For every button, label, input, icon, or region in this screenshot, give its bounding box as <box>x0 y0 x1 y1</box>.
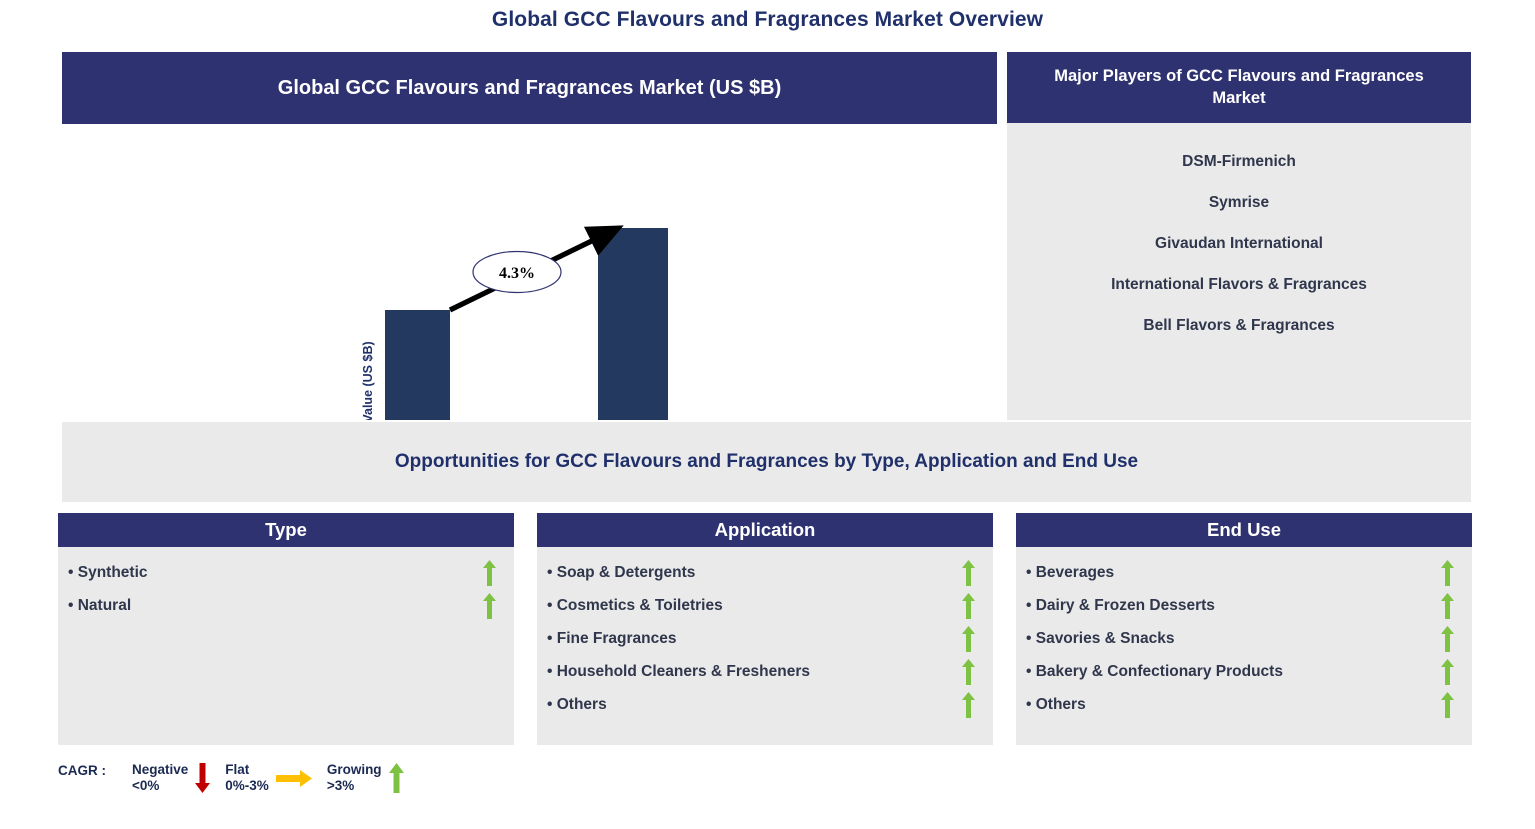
segment-item-label: • Natural <box>68 597 131 615</box>
arrow-up-icon <box>483 593 496 619</box>
arrow-up-icon <box>1441 659 1454 685</box>
segment-item-label: • Household Cleaners & Fresheners <box>547 663 810 681</box>
chart-plot-area: Value (US $B) 4.3% 2024 2031 Source : Lu… <box>62 124 997 420</box>
segment-panel-end-use: End Use • Beverages • Dairy & Frozen Des… <box>1016 513 1472 745</box>
segment-body-end-use: • Beverages • Dairy & Frozen Desserts • … <box>1016 547 1472 745</box>
list-item: • Fine Fragrances <box>537 622 993 655</box>
list-item: • Others <box>1016 688 1472 721</box>
arrow-down-icon <box>195 763 210 793</box>
segment-item-label: • Dairy & Frozen Desserts <box>1026 597 1215 615</box>
list-item: Bell Flavors & Fragrances <box>1007 305 1471 346</box>
segment-item-label: • Others <box>1026 696 1086 714</box>
segment-title: Type <box>265 519 307 541</box>
legend-entry-negative: Negative <0% <box>132 762 221 795</box>
segment-header-end-use: End Use <box>1016 513 1472 547</box>
list-item: • Soap & Detergents <box>537 556 993 589</box>
major-players-list: DSM-Firmenich Symrise Givaudan Internati… <box>1007 123 1471 420</box>
major-players-header: Major Players of GCC Flavours and Fragra… <box>1007 52 1471 123</box>
opportunities-banner: Opportunities for GCC Flavours and Fragr… <box>62 422 1471 502</box>
major-players-title: Major Players of GCC Flavours and Fragra… <box>1007 66 1471 110</box>
segment-body-type: • Synthetic • Natural <box>58 547 514 745</box>
legend-growing-text: Growing >3% <box>327 762 382 795</box>
list-item: • Others <box>537 688 993 721</box>
legend-negative-range: <0% <box>132 778 188 794</box>
list-item: International Flavors & Fragrances <box>1007 264 1471 305</box>
chart-panel-header: Global GCC Flavours and Fragrances Marke… <box>62 52 997 124</box>
major-players-panel: Major Players of GCC Flavours and Fragra… <box>1007 52 1471 420</box>
legend-flat-text: Flat 0%-3% <box>225 762 269 795</box>
segment-item-label: • Synthetic <box>68 564 148 582</box>
opportunities-title: Opportunities for GCC Flavours and Fragr… <box>395 451 1138 473</box>
segment-header-application: Application <box>537 513 993 547</box>
list-item: DSM-Firmenich <box>1007 141 1471 182</box>
arrow-up-icon <box>962 626 975 652</box>
arrow-up-icon <box>1441 560 1454 586</box>
arrow-up-icon <box>962 692 975 718</box>
segment-item-label: • Fine Fragrances <box>547 630 676 648</box>
segment-panel-type: Type • Synthetic • Natural <box>58 513 514 745</box>
segment-item-label: • Beverages <box>1026 564 1114 582</box>
list-item: • Savories & Snacks <box>1016 622 1472 655</box>
y-axis-label: Value (US $B) <box>361 341 375 420</box>
arrow-up-icon <box>1441 692 1454 718</box>
cagr-legend-label: CAGR : <box>58 762 106 778</box>
legend-flat-name: Flat <box>225 762 269 778</box>
cagr-legend: CAGR : Negative <0% Flat 0%-3% Growing >… <box>58 762 419 795</box>
legend-growing-name: Growing <box>327 762 382 778</box>
segment-title: End Use <box>1207 519 1281 541</box>
list-item: Symrise <box>1007 182 1471 223</box>
arrow-up-icon <box>962 659 975 685</box>
legend-growing-range: >3% <box>327 778 382 794</box>
list-item: • Beverages <box>1016 556 1472 589</box>
arrow-up-icon <box>389 763 404 793</box>
page-title: Global GCC Flavours and Fragrances Marke… <box>0 8 1535 32</box>
arrow-up-icon <box>1441 593 1454 619</box>
segment-item-label: • Savories & Snacks <box>1026 630 1174 648</box>
legend-flat-range: 0%-3% <box>225 778 269 794</box>
list-item: Givaudan International <box>1007 223 1471 264</box>
market-bar-chart: Value (US $B) 4.3% 2024 2031 <box>62 124 997 420</box>
arrow-right-icon <box>276 770 312 787</box>
list-item: • Synthetic <box>58 556 514 589</box>
legend-negative-text: Negative <0% <box>132 762 188 795</box>
list-item: • Cosmetics & Toiletries <box>537 589 993 622</box>
cagr-callout-value: 4.3% <box>499 265 535 282</box>
arrow-up-icon <box>962 560 975 586</box>
arrow-up-icon <box>483 560 496 586</box>
segment-item-label: • Cosmetics & Toiletries <box>547 597 723 615</box>
segment-header-type: Type <box>58 513 514 547</box>
bar-2024 <box>385 310 450 420</box>
legend-entry-growing: Growing >3% <box>327 762 415 795</box>
segment-body-application: • Soap & Detergents • Cosmetics & Toilet… <box>537 547 993 745</box>
list-item: • Dairy & Frozen Desserts <box>1016 589 1472 622</box>
segment-panel-application: Application • Soap & Detergents • Cosmet… <box>537 513 993 745</box>
list-item: • Natural <box>58 589 514 622</box>
arrow-up-icon <box>1441 626 1454 652</box>
segment-item-label: • Bakery & Confectionary Products <box>1026 663 1283 681</box>
chart-panel-title: Global GCC Flavours and Fragrances Marke… <box>258 77 801 100</box>
arrow-up-icon <box>962 593 975 619</box>
market-chart-panel: Global GCC Flavours and Fragrances Marke… <box>62 52 997 420</box>
segment-title: Application <box>715 519 816 541</box>
segment-item-label: • Soap & Detergents <box>547 564 695 582</box>
list-item: • Household Cleaners & Fresheners <box>537 655 993 688</box>
segment-item-label: • Others <box>547 696 607 714</box>
legend-negative-name: Negative <box>132 762 188 778</box>
bar-2031 <box>598 228 668 420</box>
list-item: • Bakery & Confectionary Products <box>1016 655 1472 688</box>
legend-entry-flat: Flat 0%-3% <box>225 762 323 795</box>
